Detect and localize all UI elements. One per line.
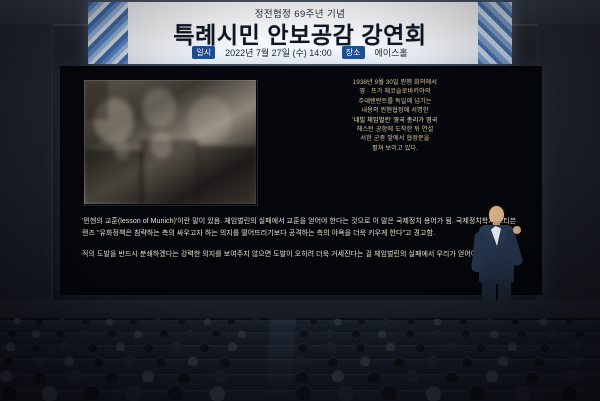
slide-paragraph-2: 적의 도발을 반드시 분쇄하겠다는 강력한 의지를 보여주지 않으면 도발이 오… [82,249,522,261]
audience-head [36,318,43,324]
audience-head [172,343,181,351]
banner-date-value: 2022년 7월 27일 (수) 14:00 [225,46,332,59]
audience-head [408,318,415,324]
audience-head [154,319,161,325]
audience-head [518,330,526,337]
audience-head [134,331,142,338]
audience-head [116,343,125,351]
audience-head [88,344,97,352]
slide-caption-line-3: 주데텐란트를 독일에 넘기는 [272,97,518,106]
audience-head [534,358,544,367]
audience-head [6,343,15,351]
audience-head [82,331,90,338]
audience-head [570,357,580,366]
audience-head [178,318,185,324]
audience-head [0,371,12,382]
slide-paragraph-1: '뮌헨의 교훈(lesson of Munich)'이란 말이 있음. 체임벌린… [82,216,522,239]
audience-head [228,343,237,351]
audience-head [296,357,306,366]
audience-head [526,372,538,383]
audience-head [124,357,134,366]
slide-caption-text: 1938년 9월 30일 뮌헨 회의에서 영 · 프가 체코슬로바키아의 주데텐… [272,78,518,153]
audience-head [352,330,360,337]
audience-head [428,357,438,366]
audience-head [228,318,235,324]
audience-head [486,371,498,382]
audience-head [446,343,455,351]
audience-head [434,319,441,325]
audience-head [512,318,519,324]
audience-head [516,387,531,401]
audience-head [470,386,485,400]
audience-head [566,318,573,324]
speaker-hand [513,226,521,234]
audience-head [296,372,308,383]
auditorium-photo: 정전협정 69주년 기념 특례시민 안보공감 강연회 일시 2022년 7월 2… [0,0,600,401]
audience-head [56,330,64,337]
audience-head [572,343,581,351]
audience-head [386,343,395,351]
audience-head [8,330,16,337]
audience-head [220,358,230,367]
audience-head [60,343,69,351]
audience-head [298,344,307,352]
banner-subtitle-row: 일시 2022년 7월 27일 (수) 14:00 장소 에이스홀 [88,46,512,59]
center-aisle [266,318,296,401]
audience-head [58,319,65,325]
audience-head [562,386,577,400]
wall-panel-right [537,24,600,324]
audience-head [186,331,194,338]
audience-head [34,358,44,367]
audience-head [540,344,549,352]
audience-seating [0,318,600,401]
audience-head [130,318,137,324]
audience-head [82,318,89,324]
audience-head [406,371,418,382]
audience-head [168,386,183,400]
audience-head [4,357,14,366]
event-banner: 정전협정 69주년 기념 특례시민 안보공감 강연회 일시 2022년 7월 2… [88,2,512,64]
audience-head [394,358,404,367]
banner-date-label: 일시 [192,46,215,59]
slide-caption-line-7: 서한 군중 앞에서 협정문을 [272,134,518,143]
audience-head [126,387,141,401]
audience-head [14,318,21,324]
audience-head [382,319,389,325]
audience-head [368,372,380,383]
audience-head [332,371,344,382]
banner-place-label: 장소 [342,46,365,59]
audience-head [106,372,118,383]
audience-head [142,371,154,382]
audience-head [84,386,99,400]
audience-head [360,357,370,366]
slide-caption-line-4: 내용의 뮌헨협정에 서명한 [272,106,518,115]
slide-caption-line-8: 펼쳐 보이고 있다. [272,144,518,153]
audience-head [356,344,365,352]
audience-head [508,343,517,351]
audience-head [486,319,493,325]
audience-head [204,319,211,325]
wall-panel-left [0,24,53,324]
audience-head [498,357,508,366]
audience-head [446,372,458,383]
audience-head [476,344,485,352]
audience-head [214,371,226,382]
slide-caption-line-6: 헤스턴 공항에 도착한 뒤 연설 [272,125,518,134]
audience-head [426,387,441,401]
audience-head [460,318,467,324]
audience-head [188,357,198,366]
audience-head [548,331,556,338]
slide-photo-frame [84,80,258,206]
audience-head [34,372,46,383]
banner-place-value: 에이스홀 [375,46,408,59]
audience-head [334,319,341,325]
audience-head [32,331,40,338]
audience-head [210,387,225,401]
audience-head [328,358,338,367]
audience-head [212,330,220,337]
audience-head [338,387,353,401]
audience-head [540,319,547,325]
slide-caption-line-2: 영 · 프가 체코슬로바키아의 [272,87,518,96]
slide-caption-line-1: 1938년 9월 30일 뮌헨 회의에서 [272,78,518,87]
audience-head [252,319,259,325]
audience-head [490,331,498,338]
audience-head [300,330,308,337]
audience-head [108,330,116,337]
audience-head [566,371,578,382]
audience-head [462,330,470,337]
audience-head [32,344,41,352]
audience-head [576,330,584,337]
audience-head [406,330,414,337]
audience-head [378,331,386,338]
audience-head [178,372,190,383]
audience-head [416,344,425,352]
audience-head [2,386,17,400]
banner-title: 특례시민 안보공감 강연회 [88,16,512,50]
audience-head [434,331,442,338]
audience-head [144,344,153,352]
audience-head [462,358,472,367]
audience-head [42,387,57,401]
audience-head [106,319,113,325]
audience-head [326,343,335,351]
audience-head [358,318,365,324]
audience-head [94,358,104,367]
slide-caption-line-5: '네빌 체임벌린' 영국 총리가 영국 [272,116,518,125]
audience-head [238,331,246,338]
audience-head [310,318,317,324]
audience-head [382,386,397,400]
audience-head [70,371,82,382]
audience-head [296,386,311,400]
audience-head [326,331,334,338]
audience-head [156,358,166,367]
audience-head [160,330,168,337]
audience-head [64,357,74,366]
audience-head [200,344,209,352]
slide-body-text: '뮌헨의 교훈(lesson of Munich)'이란 말이 있음. 체임벌린… [82,216,522,261]
